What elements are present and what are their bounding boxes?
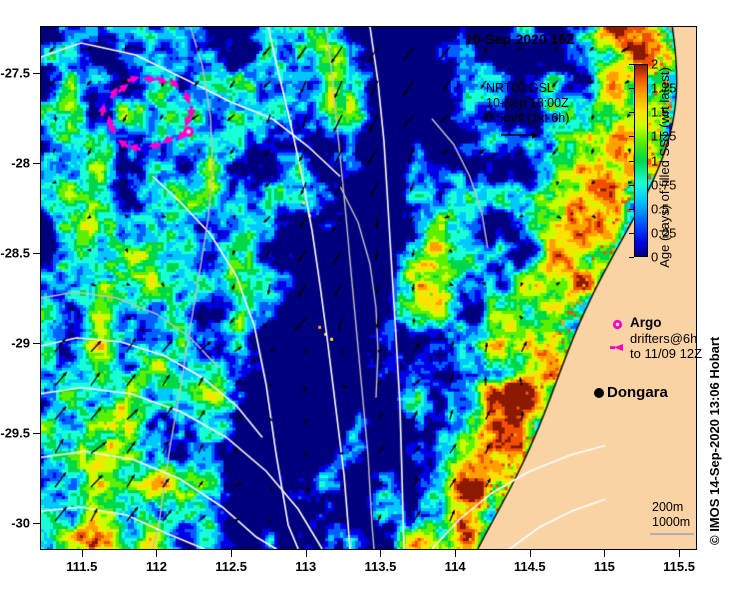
x-axis-tick-label: 111.5 bbox=[66, 559, 97, 574]
colorbar-tick bbox=[629, 161, 634, 162]
current-speed-reference: 0.5m/s (1kt 6h) bbox=[486, 111, 569, 126]
current-source-name: NRT00 GSL bbox=[486, 81, 569, 96]
current-valid-time: 10-Sep 18:00Z bbox=[486, 96, 569, 111]
copyright-credit: © IMOS 14-Sep-2020 13:06 Hobart bbox=[707, 337, 722, 545]
x-axis-tick-label: 115 bbox=[594, 559, 615, 574]
y-axis-tick bbox=[33, 433, 40, 434]
colorbar-tick bbox=[629, 233, 634, 234]
y-axis-tick bbox=[33, 343, 40, 344]
city-dot-icon bbox=[594, 388, 604, 398]
colorbar-gradient bbox=[634, 64, 648, 257]
city-label: Dongara bbox=[607, 384, 668, 401]
x-axis-tick-label: 114.5 bbox=[514, 559, 546, 574]
colorbar-tick bbox=[629, 64, 634, 65]
x-axis-tick-label: 113 bbox=[295, 559, 316, 574]
x-axis-tick-label: 112 bbox=[146, 559, 167, 574]
x-axis-tick bbox=[455, 550, 456, 557]
y-axis-tick bbox=[33, 163, 40, 164]
map-figure: 10-Sep-2020 16Z NRT00 GSL 10-Sep 18:00Z … bbox=[0, 0, 739, 592]
x-axis-tick bbox=[306, 550, 307, 557]
scalebar-line bbox=[650, 533, 694, 535]
sst-age-raster bbox=[41, 27, 696, 549]
drifter-arrow-icon bbox=[610, 341, 624, 353]
y-axis-tick-label: -29.5 bbox=[0, 425, 30, 440]
y-axis-tick bbox=[33, 523, 40, 524]
legend-drifter-label-line1: drifters@6h bbox=[630, 331, 697, 346]
x-axis-tick-label: 115.5 bbox=[663, 559, 695, 574]
x-axis-tick bbox=[82, 550, 83, 557]
y-axis-tick-label: -27.5 bbox=[0, 65, 30, 80]
colorbar-tick bbox=[629, 185, 634, 186]
colorbar-tick bbox=[629, 112, 634, 113]
colorbar-tick bbox=[629, 209, 634, 210]
x-axis-tick bbox=[530, 550, 531, 557]
legend-argo-label: Argo bbox=[630, 315, 662, 330]
current-source-block: NRT00 GSL 10-Sep 18:00Z 0.5m/s (1kt 6h) bbox=[486, 81, 569, 126]
x-axis-tick bbox=[380, 550, 381, 557]
scalebar-deep-label: 1000m bbox=[652, 515, 690, 529]
x-axis-tick-label: 113.5 bbox=[365, 559, 397, 574]
map-plot-area[interactable] bbox=[40, 26, 697, 550]
x-axis-tick bbox=[231, 550, 232, 557]
colorbar-tick bbox=[629, 136, 634, 137]
y-axis-tick bbox=[33, 73, 40, 74]
legend-drifter-label-line2: to 11/09 12Z bbox=[630, 346, 702, 361]
arrow-right-icon bbox=[500, 128, 540, 140]
x-axis-tick bbox=[679, 550, 680, 557]
scalebar-shallow-label: 200m bbox=[652, 500, 683, 514]
y-axis-tick-label: -29 bbox=[11, 335, 30, 350]
x-axis-tick bbox=[604, 550, 605, 557]
y-axis-tick-label: -28 bbox=[11, 155, 30, 170]
x-axis-tick bbox=[156, 550, 157, 557]
y-axis-tick-label: -30 bbox=[11, 515, 30, 530]
x-axis-tick-label: 112.5 bbox=[215, 559, 247, 574]
timestamp-label: 10-Sep-2020 16Z bbox=[465, 31, 575, 47]
y-axis-tick bbox=[33, 253, 40, 254]
colorbar-tick bbox=[629, 88, 634, 89]
colorbar-axis-title: Age (days) of filled SST (wrt latest) bbox=[657, 67, 672, 268]
colorbar-tick bbox=[629, 257, 634, 258]
argo-float-icon bbox=[612, 317, 623, 328]
x-axis-tick-label: 114 bbox=[445, 559, 466, 574]
y-axis-tick-label: -28.5 bbox=[0, 245, 30, 260]
